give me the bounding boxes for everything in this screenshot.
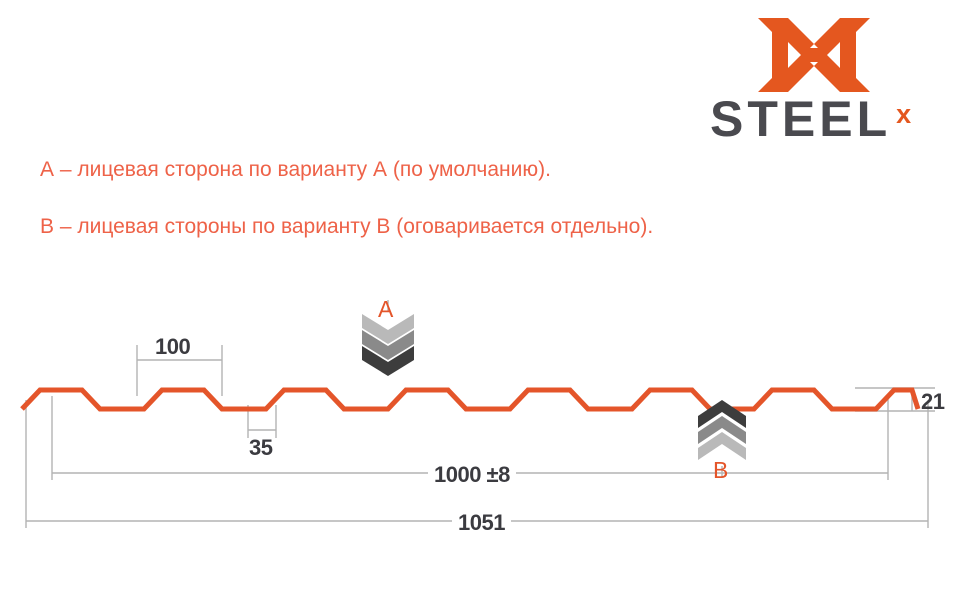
technical-drawing-page: STEEL x А – лицевая сторона по варианту … [0,0,970,593]
face-marker-a-chevrons [362,314,414,376]
dimension-label-height: 21 [921,389,944,415]
face-marker-b-label: B [713,457,728,484]
face-marker-a-label: A [378,296,393,323]
profile-drawing [0,0,970,593]
sheet-profile-polyline [22,390,918,409]
dimension-label-pitch: 100 [155,334,190,360]
dimension-label-trough: 35 [249,435,272,461]
dimension-label-total-width: 1051 [452,510,511,536]
dimension-label-cover-width: 1000 ±8 [428,462,516,488]
